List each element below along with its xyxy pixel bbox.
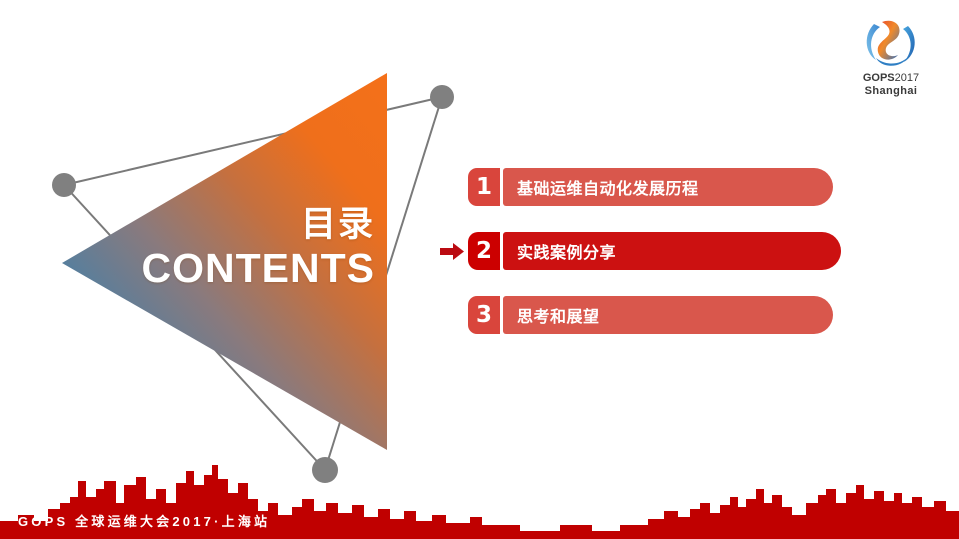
- logo-year: 2017: [895, 72, 919, 84]
- agenda-list: 1 基础运维自动化发展历程 2 实践案例分享 3 思考和展望: [438, 168, 858, 334]
- agenda-label-1: 基础运维自动化发展历程: [503, 168, 833, 206]
- agenda-item-1[interactable]: 1 基础运维自动化发展历程: [438, 168, 858, 206]
- logo-city: Shanghai: [845, 85, 937, 98]
- agenda-item-3[interactable]: 3 思考和展望: [438, 296, 858, 334]
- agenda-number-badge-2: 2: [468, 232, 500, 270]
- agenda-number-badge-1: 1: [468, 168, 500, 206]
- agenda-label-2: 实践案例分享: [503, 232, 841, 270]
- marker-slot-1: [438, 168, 468, 206]
- slide-canvas: 目录 CONTENTS 1 基础运维自动化发展历程 2 实践案例分享 3 思考和…: [0, 0, 959, 539]
- node-circle-left: [52, 173, 76, 197]
- marker-slot-2: [438, 232, 468, 270]
- agenda-number-badge-3: 3: [468, 296, 500, 334]
- active-arrow-icon: [440, 243, 464, 260]
- logo-caption: GOPS2017 Shanghai: [845, 72, 937, 98]
- agenda-item-2[interactable]: 2 实践案例分享: [438, 232, 858, 270]
- footer-caption: GOPS 全球运维大会2017·上海站: [18, 511, 270, 530]
- title-chinese: 目录: [130, 205, 375, 245]
- page-title: 目录 CONTENTS: [130, 205, 375, 291]
- gops-swirl-icon: [862, 14, 920, 70]
- title-english: CONTENTS: [130, 245, 375, 291]
- agenda-label-3: 思考和展望: [503, 296, 833, 334]
- logo-name: GOPS: [863, 72, 895, 84]
- node-circle-top: [430, 85, 454, 109]
- marker-slot-3: [438, 296, 468, 334]
- brand-logo: GOPS2017 Shanghai: [845, 14, 937, 98]
